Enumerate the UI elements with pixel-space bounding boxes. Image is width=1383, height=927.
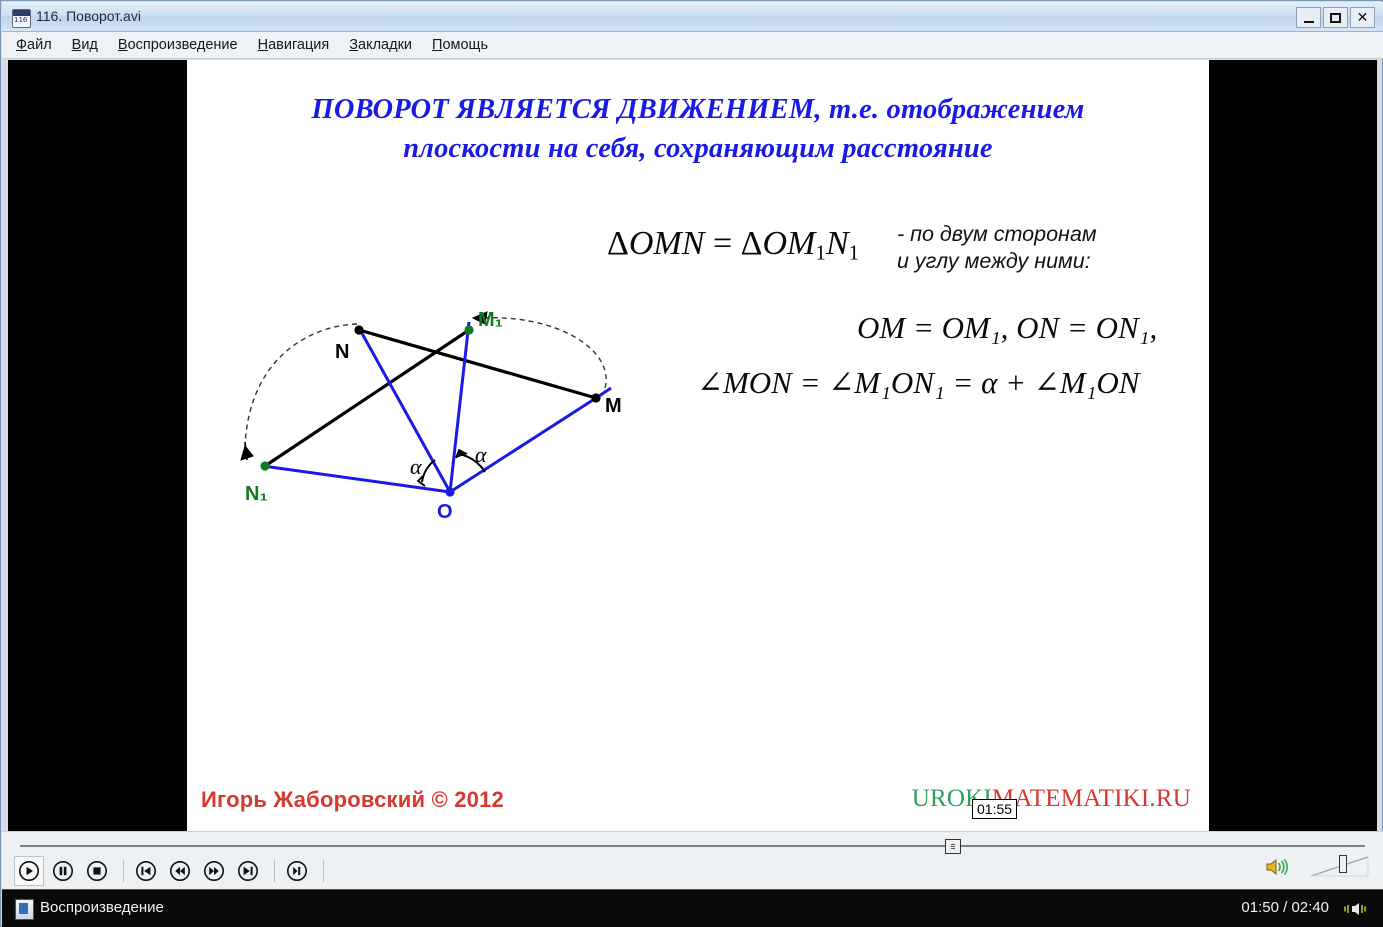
author-credit: Игорь Жаборовский © 2012: [201, 787, 504, 813]
menu-accel: В: [72, 37, 82, 53]
menu-item-playback[interactable]: Воспроизведение: [118, 37, 238, 53]
rewind-button[interactable]: [165, 856, 195, 886]
close-button[interactable]: ✕: [1350, 7, 1375, 28]
divider: [123, 860, 124, 882]
media-player-window: 116 116. Поворот.avi ✕ Файл Вид Воспроиз…: [0, 0, 1383, 927]
vertex-O: [445, 487, 454, 496]
window-title: 116. Поворот.avi: [36, 8, 141, 24]
formula-equal-sides: OM = OM₁, ON = ON₁,: [857, 310, 1157, 346]
formula-note-line2: и углу между ними:: [897, 248, 1187, 275]
label-N: N: [335, 341, 349, 363]
status-speaker-icon: [1343, 900, 1369, 918]
rotation-diagram: N M₁ M N₁ O α α: [197, 210, 667, 520]
speaker-icon[interactable]: [1265, 856, 1289, 878]
play-icon: [18, 860, 40, 882]
page-title-line1: ПОВОРОТ ЯВЛЯЕТСЯ ДВИЖЕНИЕМ, т.е. отображ…: [187, 90, 1209, 129]
maximize-icon: [1330, 13, 1341, 23]
seek-bar[interactable]: [20, 839, 1365, 854]
angle-label-alpha-left: α: [410, 454, 422, 479]
close-icon: ✕: [1357, 11, 1369, 25]
label-O: O: [437, 501, 453, 520]
forward-icon: [203, 860, 225, 882]
frame-step-button[interactable]: [282, 856, 312, 886]
minimize-button[interactable]: [1296, 7, 1321, 28]
video-surface[interactable]: ПОВОРОТ ЯВЛЯЕТСЯ ДВИЖЕНИЕМ, т.е. отображ…: [8, 60, 1377, 831]
frame-step-icon: [286, 860, 308, 882]
menu-accel: З: [349, 37, 358, 53]
menu-rest: айл: [27, 37, 52, 53]
transport-buttons: [14, 856, 331, 886]
label-N1: N₁: [245, 483, 268, 505]
menu-bar: Файл Вид Воспроизведение Навигация Закла…: [2, 32, 1383, 59]
page-title-line2: плоскости на себя, сохраняющим расстояни…: [187, 129, 1209, 168]
menu-item-view[interactable]: Вид: [72, 37, 98, 53]
divider: [323, 860, 324, 882]
media-file-icon: [15, 899, 34, 920]
player-controls: [2, 831, 1383, 889]
volume-thumb[interactable]: [1339, 855, 1347, 873]
play-button[interactable]: [14, 856, 44, 886]
pause-icon: [52, 860, 74, 882]
page-title: ПОВОРОТ ЯВЛЯЕТСЯ ДВИЖЕНИЕМ, т.е. отображ…: [187, 90, 1209, 168]
presentation-slide: ПОВОРОТ ЯВЛЯЕТСЯ ДВИЖЕНИЕМ, т.е. отображ…: [187, 60, 1209, 831]
maximize-button[interactable]: [1323, 7, 1348, 28]
seek-thumb[interactable]: [945, 839, 961, 854]
vertex-M: [591, 393, 600, 402]
status-time: 01:50 / 02:40: [1241, 899, 1329, 916]
skip-forward-icon: [237, 860, 259, 882]
menu-rest: ид: [81, 37, 98, 53]
divider: [274, 860, 275, 882]
menu-accel: Ф: [16, 37, 27, 53]
stop-button[interactable]: [82, 856, 112, 886]
image-figure-lines: [263, 322, 611, 492]
rewind-icon: [169, 860, 191, 882]
volume-slider[interactable]: [1311, 854, 1369, 880]
skip-forward-button[interactable]: [233, 856, 263, 886]
menu-item-help[interactable]: Помощь: [432, 37, 488, 53]
skip-back-button[interactable]: [131, 856, 161, 886]
film-clapper-icon: 116: [12, 9, 31, 28]
status-message: Воспроизведение: [40, 899, 164, 916]
skip-back-icon: [135, 860, 157, 882]
title-bar: 116 116. Поворот.avi ✕: [2, 2, 1383, 32]
menu-item-navigation[interactable]: Навигация: [258, 37, 330, 53]
stop-icon: [86, 860, 108, 882]
minimize-icon: [1304, 21, 1314, 23]
site-watermark: UROKIMATEMATIKI.RU: [912, 785, 1191, 813]
formula-equal-angles: ∠MON = ∠M₁ON₁ = α + ∠M₁ON: [697, 365, 1139, 401]
menu-rest: оспроизведение: [128, 37, 238, 53]
formula-note: - по двум сторонам и углу между ними:: [897, 221, 1187, 275]
menu-accel: Н: [258, 37, 268, 53]
menu-accel: П: [432, 37, 442, 53]
original-figure-lines: [265, 330, 596, 466]
vertex-N1: [260, 461, 269, 470]
menu-item-file[interactable]: Файл: [16, 37, 52, 53]
volume-area: [1265, 854, 1369, 880]
label-M: M: [605, 395, 622, 417]
seek-track[interactable]: [20, 845, 1365, 847]
menu-rest: омощь: [442, 37, 488, 53]
vertex-M1: [464, 325, 473, 334]
watermark-part-red: MATEMATIKI.RU: [992, 785, 1191, 812]
pause-button[interactable]: [48, 856, 78, 886]
menu-accel: В: [118, 37, 128, 53]
vertex-N: [354, 325, 363, 334]
formula-note-line1: - по двум сторонам: [897, 221, 1187, 248]
menu-rest: акладки: [358, 37, 412, 53]
status-bar: Воспроизведение 01:50 / 02:40: [2, 889, 1383, 927]
menu-item-bookmarks[interactable]: Закладки: [349, 37, 412, 53]
formula-congruence: ΔOMN = ΔOM1N1: [607, 225, 859, 265]
seek-tooltip: 01:55: [972, 799, 1017, 819]
label-M1: M₁: [478, 309, 503, 331]
window-controls: ✕: [1296, 7, 1375, 28]
menu-rest: авигация: [268, 37, 329, 53]
forward-button[interactable]: [199, 856, 229, 886]
angle-label-alpha-right: α: [475, 442, 487, 467]
